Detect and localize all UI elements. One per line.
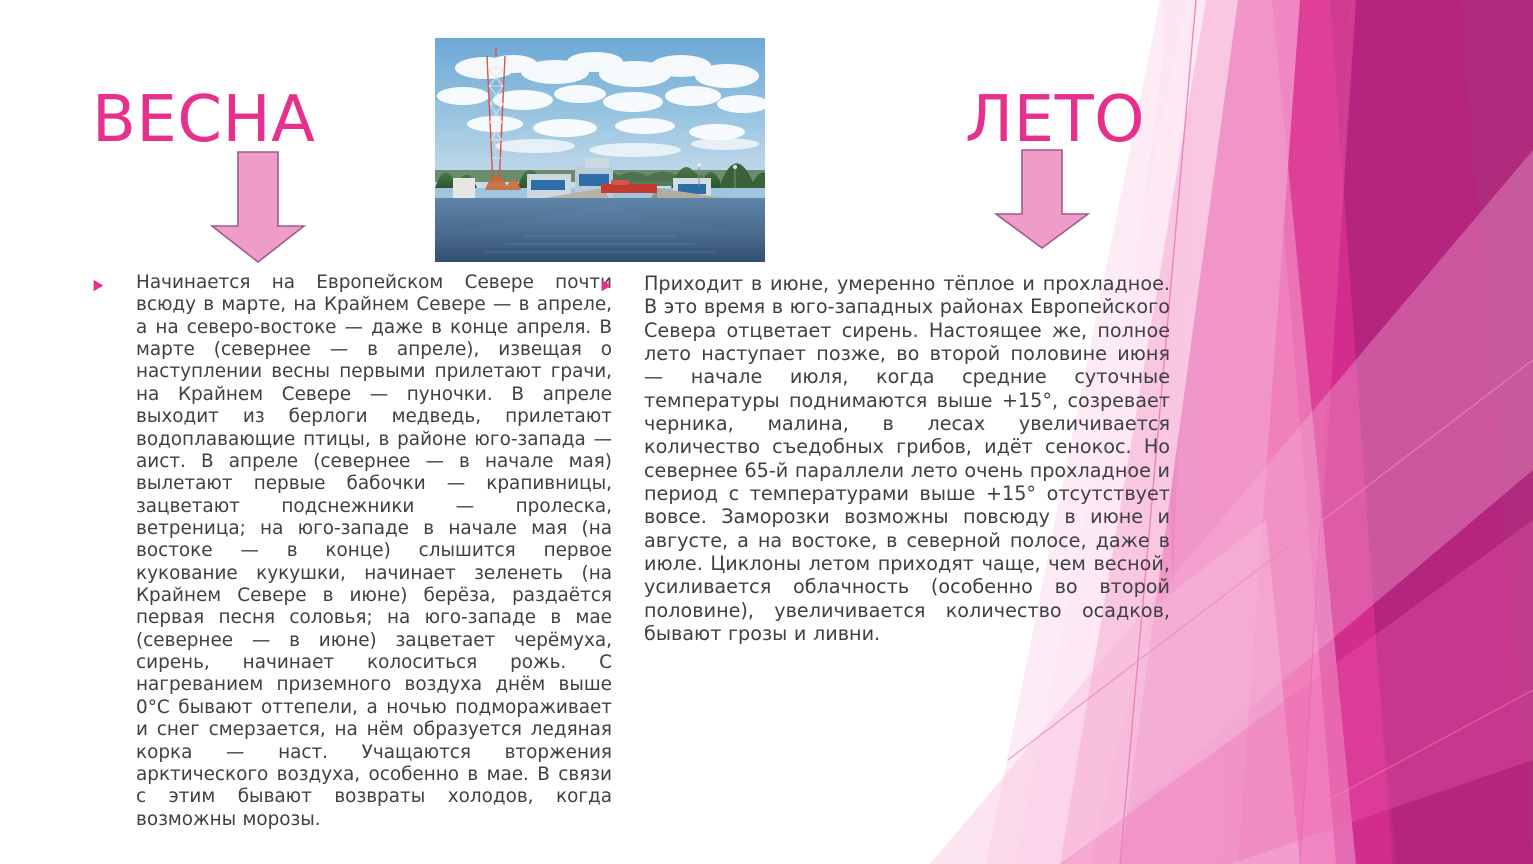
river-lock-photo <box>435 38 765 262</box>
content-column-summer: Приходит в июне, умеренно тёплое и прохл… <box>600 272 1170 645</box>
body-text-spring: Начинается на Европейском Севере почти в… <box>118 272 612 831</box>
arrow-down-icon-spring <box>204 148 312 266</box>
bg-shape-hotpink-mid <box>1240 0 1392 864</box>
body-text-summer: Приходит в июне, умеренно тёплое и прохл… <box>626 272 1170 645</box>
page-title-spring: ВЕСНА <box>92 88 315 152</box>
content-column-spring: Начинается на Европейском Севере почти в… <box>92 272 612 831</box>
arrow-down-icon-summer <box>988 146 1096 252</box>
bg-shape-pink-column <box>1163 0 1336 864</box>
bg-shape-deep-right <box>1381 0 1533 864</box>
bg-hairline-diagonal-2 <box>1210 690 1533 864</box>
presentation-slide: ВЕСНА ЛЕТО <box>0 0 1533 864</box>
triangle-bullet-icon <box>92 279 118 292</box>
bg-hairline-vertical-2 <box>1300 0 1352 864</box>
bg-shape-magenta-wide <box>1196 0 1436 864</box>
bg-shape-magenta-dark <box>1318 0 1533 864</box>
triangle-bullet-icon <box>600 279 626 292</box>
page-title-summer: ЛЕТО <box>965 88 1145 152</box>
bg-shape-light-sweep-2 <box>1162 0 1356 864</box>
bg-shape-pink-lean <box>1226 0 1356 864</box>
